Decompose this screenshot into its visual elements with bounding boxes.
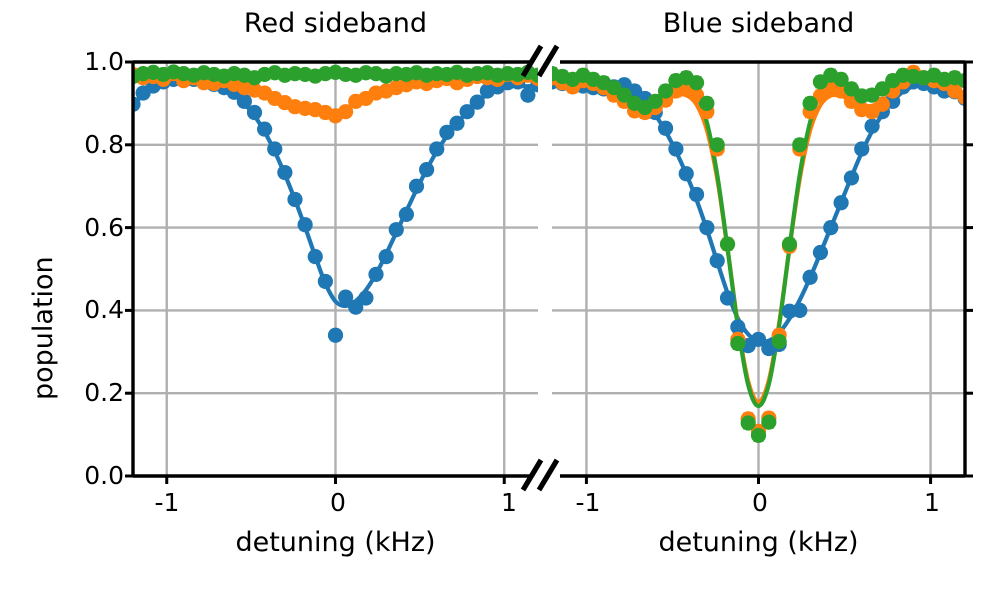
data-point [741, 415, 756, 430]
data-point [823, 220, 838, 235]
panel-red-sideband [125, 62, 546, 484]
data-point [710, 137, 725, 152]
data-point [689, 187, 704, 202]
data-point [854, 141, 869, 156]
data-point [699, 220, 714, 235]
data-point [668, 141, 683, 156]
data-point [834, 195, 849, 210]
data-point [720, 290, 735, 305]
data-point [449, 116, 464, 131]
data-point [792, 137, 807, 152]
data-point [318, 274, 333, 289]
data-point [782, 237, 797, 252]
data-point [419, 162, 434, 177]
data-point [287, 192, 302, 207]
data-point [864, 119, 879, 134]
data-point [308, 249, 323, 264]
data-point [409, 179, 424, 194]
plot-canvas [0, 0, 998, 593]
data-point [710, 253, 725, 268]
data-point [803, 96, 818, 111]
data-point [379, 249, 394, 264]
data-point [730, 336, 745, 351]
data-point [247, 105, 262, 120]
data-point [679, 166, 694, 181]
data-point [792, 303, 807, 318]
data-point [844, 170, 859, 185]
panel-blue-sideband [544, 62, 973, 484]
data-point [389, 222, 404, 237]
data-point [699, 96, 714, 111]
data-point [689, 75, 704, 90]
data-point [720, 237, 735, 252]
figure-root: Red sideband Blue sideband population 1.… [0, 0, 998, 593]
data-point [358, 290, 373, 305]
data-point [429, 141, 444, 156]
data-point [813, 245, 828, 260]
data-point [751, 428, 766, 443]
axis-break-marks [523, 46, 557, 490]
data-point [761, 415, 776, 430]
data-point [399, 207, 414, 222]
data-point [368, 267, 383, 282]
data-point [277, 165, 292, 180]
data-point [267, 141, 282, 156]
data-point [298, 217, 313, 232]
data-point [658, 121, 673, 136]
data-point [257, 121, 272, 136]
data-point [772, 334, 787, 349]
data-point [328, 328, 343, 343]
data-point [803, 270, 818, 285]
